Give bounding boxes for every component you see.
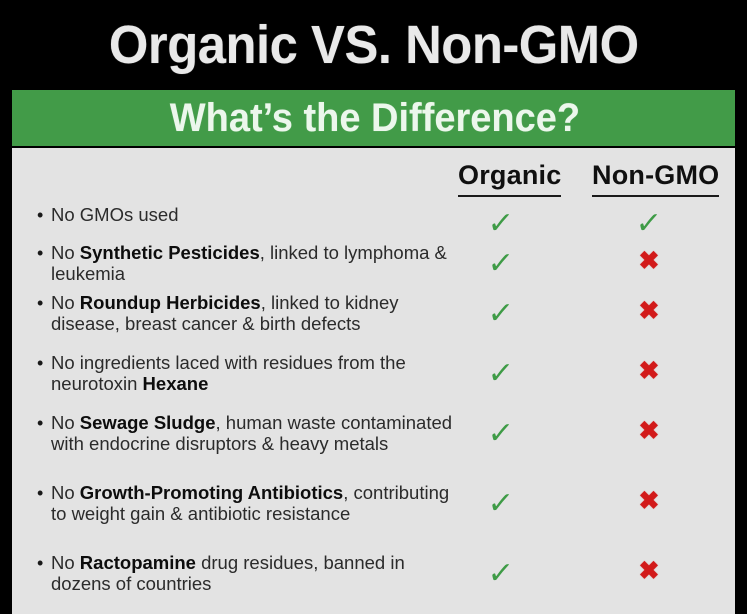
cell-organic-check: ✓ <box>474 299 528 329</box>
cell-organic-check: ✓ <box>474 489 528 519</box>
frame-right-edge <box>735 90 747 614</box>
cell-organic-check: ✓ <box>474 419 528 449</box>
row-label: •No Synthetic Pesticides, linked to lymp… <box>37 242 457 284</box>
cross-icon: ✖ <box>639 489 660 514</box>
check-icon: ✓ <box>487 249 515 279</box>
row-label-text: No Synthetic Pesticides, linked to lymph… <box>51 242 457 284</box>
row-label: •No Sewage Sludge, human waste contamina… <box>37 412 457 454</box>
cell-nongmo-x: ✖ <box>622 489 676 514</box>
bullet-icon: • <box>37 553 51 574</box>
bullet-icon: • <box>37 353 51 374</box>
column-header-row: Organic Non-GMO <box>12 160 737 204</box>
cell-nongmo-check: ✓ <box>622 209 676 239</box>
title-band: Organic VS. Non-GMO <box>0 0 747 90</box>
page-subtitle: What’s the Difference? <box>169 98 579 138</box>
cell-nongmo-x: ✖ <box>622 419 676 444</box>
check-icon: ✓ <box>487 209 515 239</box>
comparison-panel: Organic Non-GMO •No GMOs used✓✓•No Synth… <box>12 148 737 614</box>
cell-organic-check: ✓ <box>474 559 528 589</box>
cross-icon: ✖ <box>639 359 660 384</box>
row-label-text: No ingredients laced with residues from … <box>51 352 457 394</box>
bullet-icon: • <box>37 205 51 226</box>
cross-icon: ✖ <box>639 419 660 444</box>
row-label-text: No GMOs used <box>51 204 457 225</box>
row-label: •No GMOs used <box>37 204 457 225</box>
check-icon: ✓ <box>487 359 515 389</box>
row-label-text: No Ractopamine drug residues, banned in … <box>51 552 457 594</box>
row-label-text: No Roundup Herbicides, linked to kidney … <box>51 292 457 334</box>
infographic-root: Organic VS. Non-GMO What’s the Differenc… <box>0 0 747 614</box>
check-icon: ✓ <box>487 489 515 519</box>
page-title: Organic VS. Non-GMO <box>109 18 639 72</box>
bullet-icon: • <box>37 293 51 314</box>
cell-organic-check: ✓ <box>474 359 528 389</box>
cell-nongmo-x: ✖ <box>622 249 676 274</box>
row-label-text: No Sewage Sludge, human waste contaminat… <box>51 412 457 454</box>
bullet-icon: • <box>37 483 51 504</box>
column-header-organic: Organic <box>458 160 561 197</box>
cross-icon: ✖ <box>639 299 660 324</box>
check-icon: ✓ <box>487 559 515 589</box>
cell-organic-check: ✓ <box>474 209 528 239</box>
column-header-nongmo: Non-GMO <box>592 160 719 197</box>
row-label: •No Ractopamine drug residues, banned in… <box>37 552 457 594</box>
check-icon: ✓ <box>635 209 663 239</box>
bullet-icon: • <box>37 243 51 264</box>
row-label: •No Growth-Promoting Antibiotics, contri… <box>37 482 457 524</box>
check-icon: ✓ <box>487 419 515 449</box>
cell-nongmo-x: ✖ <box>622 559 676 584</box>
cell-nongmo-x: ✖ <box>622 299 676 324</box>
check-icon: ✓ <box>487 299 515 329</box>
cell-organic-check: ✓ <box>474 249 528 279</box>
frame-left-edge <box>0 90 12 614</box>
cross-icon: ✖ <box>639 249 660 274</box>
row-label: •No ingredients laced with residues from… <box>37 352 457 394</box>
cell-nongmo-x: ✖ <box>622 359 676 384</box>
bullet-icon: • <box>37 413 51 434</box>
cross-icon: ✖ <box>639 559 660 584</box>
subtitle-band: What’s the Difference? <box>12 90 737 146</box>
row-label: •No Roundup Herbicides, linked to kidney… <box>37 292 457 334</box>
row-label-text: No Growth-Promoting Antibiotics, contrib… <box>51 482 457 524</box>
